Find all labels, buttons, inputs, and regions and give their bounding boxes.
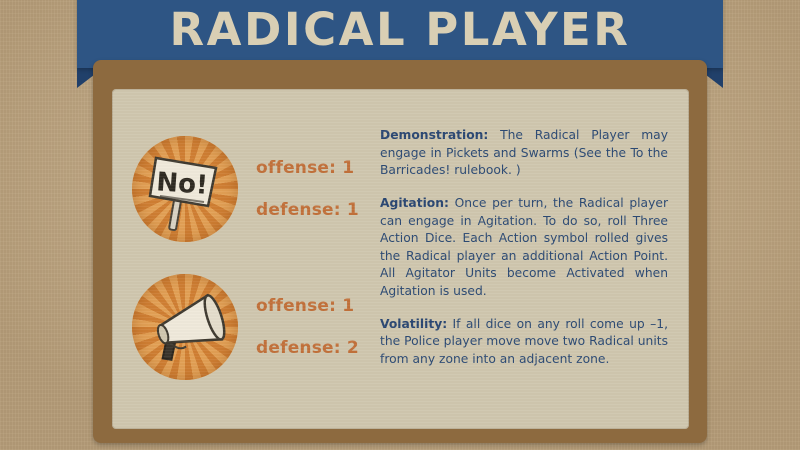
defense-stat: defense: 1 [256,200,359,220]
stat-block-agitation: offense: 1 defense: 2 [132,267,367,387]
player-card: No! offense: 1 defense: [93,60,707,443]
defense-stat: defense: 2 [256,338,359,358]
offense-value: 1 [342,296,354,316]
defense-label: defense: [256,338,341,358]
stats-column: No! offense: 1 defense: [112,89,367,429]
player-card-body: No! offense: 1 defense: [112,89,689,429]
game-card-screen: RADICAL PLAYER [0,0,800,450]
offense-label: offense: [256,158,336,178]
protest-sign-glyph: No! [132,136,238,242]
rule-title: Volatility: [380,317,447,331]
stat-values: offense: 1 defense: 1 [256,158,359,220]
offense-stat: offense: 1 [256,296,359,316]
protest-sign-no-icon: No! [132,136,238,242]
rule-title: Agitation: [380,196,449,210]
megaphone-icon [132,274,238,380]
offense-label: offense: [256,296,336,316]
offense-stat: offense: 1 [256,158,359,178]
rule-text: Once per turn, the Radical player can en… [380,196,668,298]
defense-value: 2 [347,338,359,358]
defense-label: defense: [256,200,341,220]
defense-value: 1 [347,200,359,220]
rule-volatility: Volatility: If all dice on any roll come… [380,316,668,369]
rule-title: Demonstration: [380,128,488,142]
title-banner: RADICAL PLAYER [77,0,723,68]
rule-agitation: Agitation: Once per turn, the Radical pl… [380,195,668,301]
rule-demonstration: Demonstration: The Radical Player may en… [380,127,668,180]
megaphone-glyph [132,274,238,380]
rules-column: Demonstration: The Radical Player may en… [380,115,668,368]
offense-value: 1 [342,158,354,178]
page-title: RADICAL PLAYER [77,0,723,64]
stat-block-demonstration: No! offense: 1 defense: [132,129,367,249]
stat-values: offense: 1 defense: 2 [256,296,359,358]
